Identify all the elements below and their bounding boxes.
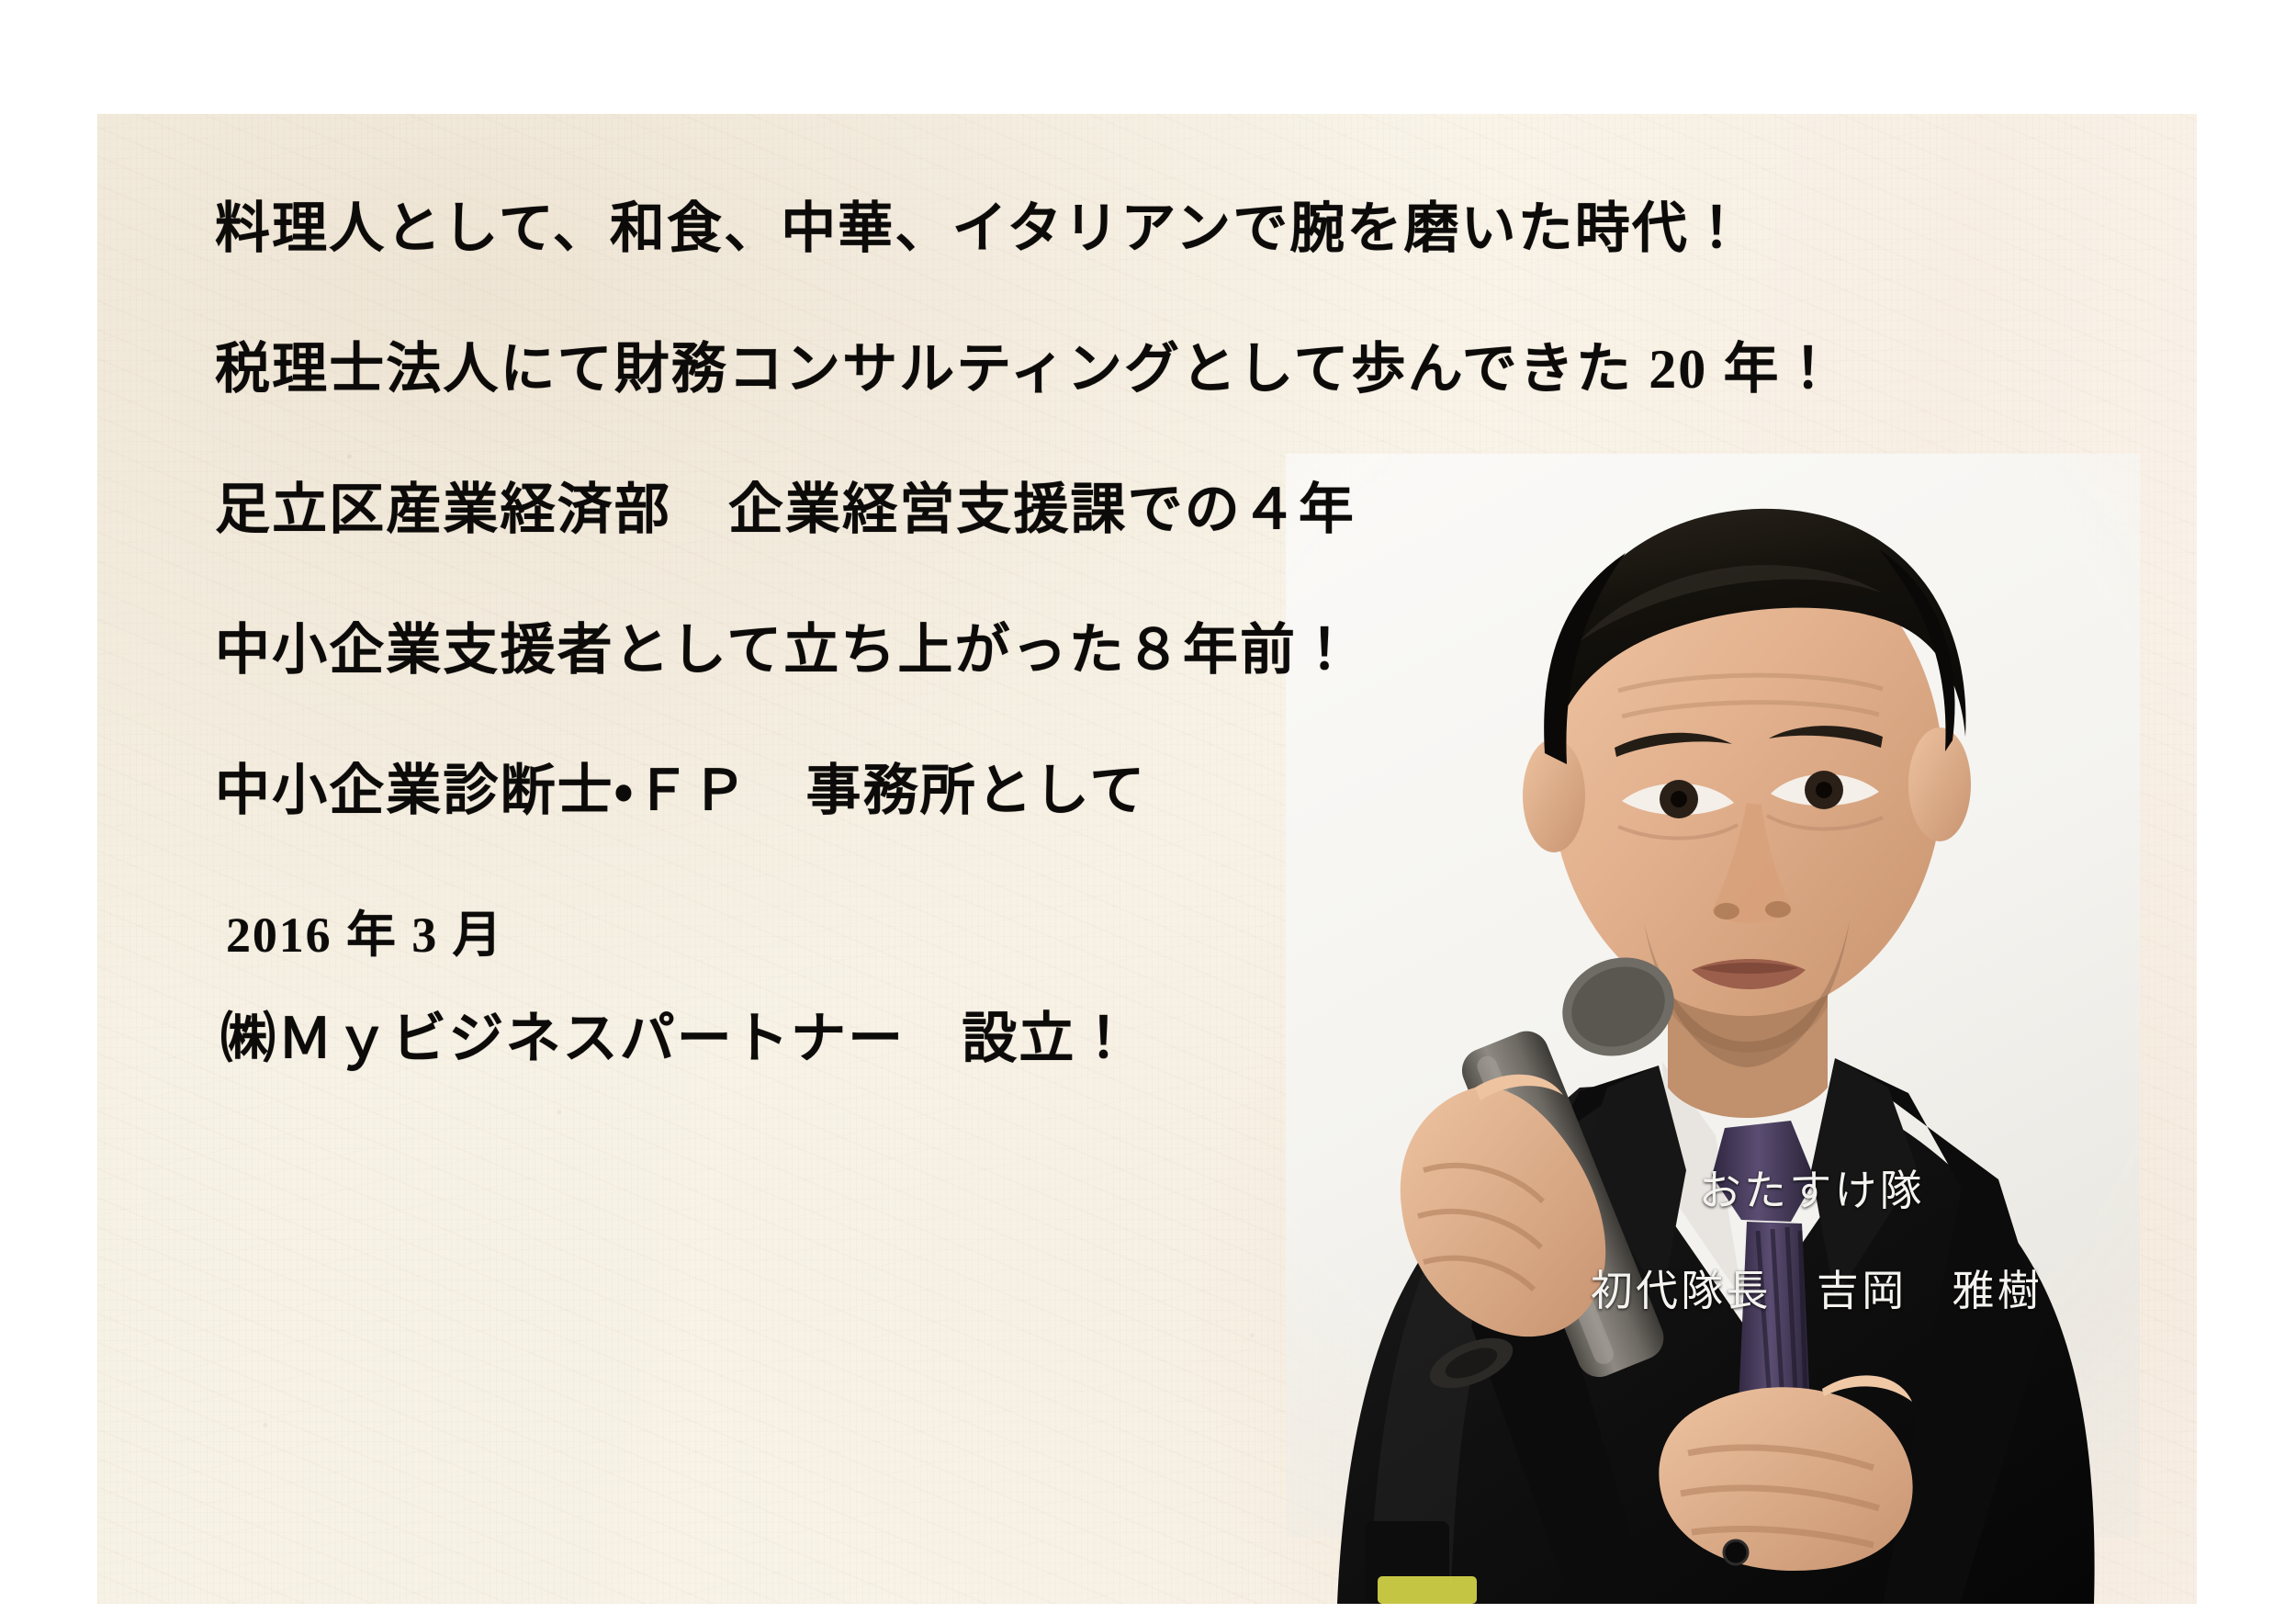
jacket-button	[1724, 1540, 1748, 1564]
slide-canvas: 料理人として、和食、中華、イタリアンで腕を磨いた時代！ 税理士法人にて財務コンサ…	[0, 0, 2296, 1624]
copy-line-4: 中小企業支援者として立ち上がった８年前！	[215, 623, 1519, 678]
copy-line-1: 料理人として、和食、中華、イタリアンで腕を磨いた時代！	[215, 201, 1519, 256]
copy-line-7: ㈱Ｍｙビジネスパートナー 設立！	[220, 1011, 1519, 1066]
copy-line-2: 税理士法人にて財務コンサルティングとして歩んできた 20 年！	[215, 342, 1519, 397]
copy-line-3: 足立区産業経済部 企業経営支援課での４年	[215, 482, 1519, 537]
right-ear	[1908, 727, 1971, 841]
slide-sheet: 料理人として、和食、中華、イタリアンで腕を磨いた時代！ 税理士法人にて財務コンサ…	[97, 114, 2197, 1604]
copy-line-5: 中小企業診断士・ＦＰ 事務所として	[215, 763, 1519, 818]
body-copy: 料理人として、和食、中華、イタリアンで腕を磨いた時代！ 税理士法人にて財務コンサ…	[215, 201, 1519, 1066]
caption-team-name: おたすけ隊	[1699, 1170, 2043, 1212]
photo-caption: おたすけ隊 初代隊長 吉岡 雅樹	[1591, 1170, 2043, 1313]
copy-line-6: 2016 年 3 月	[226, 910, 1519, 960]
caption-leader-name: 初代隊長 吉岡 雅樹	[1591, 1270, 2043, 1313]
